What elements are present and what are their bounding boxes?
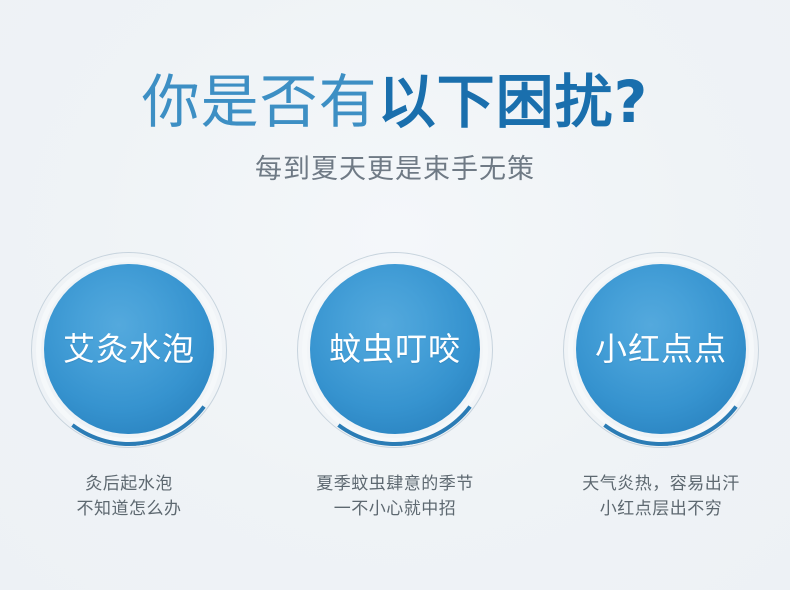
circle-label: 艾灸水泡 <box>63 333 195 365</box>
caption-line-1: 灸后起水泡 <box>77 472 182 497</box>
circle-label: 小红点点 <box>595 333 727 365</box>
circle-badge: 小红点点 <box>563 252 759 448</box>
circle-badge: 艾灸水泡 <box>31 252 227 448</box>
promo-poster: 你是否有以下困扰? 每到夏天更是束手无策 艾灸水泡 灸后起水泡 不知道怎么办 <box>0 0 790 590</box>
problem-card-list: 艾灸水泡 灸后起水泡 不知道怎么办 蚊虫叮咬 夏季蚊虫肆意的季节 一不小心就中招 <box>0 252 790 521</box>
circle-label: 蚊虫叮咬 <box>329 333 461 365</box>
page-title: 你是否有以下困扰? <box>0 0 790 133</box>
problem-card: 小红点点 天气炎热，容易出汗 小红点层出不穷 <box>547 252 775 521</box>
title-strong-part: 以下困扰? <box>378 68 649 136</box>
blue-disc: 艾灸水泡 <box>44 264 214 434</box>
card-caption: 天气炎热，容易出汗 小红点层出不穷 <box>582 472 740 521</box>
card-caption: 夏季蚊虫肆意的季节 一不小心就中招 <box>316 472 474 521</box>
poster-header: 你是否有以下困扰? 每到夏天更是束手无策 <box>0 0 790 186</box>
page-subtitle: 每到夏天更是束手无策 <box>0 133 790 186</box>
caption-line-1: 夏季蚊虫肆意的季节 <box>316 472 474 497</box>
problem-card: 蚊虫叮咬 夏季蚊虫肆意的季节 一不小心就中招 <box>281 252 509 521</box>
caption-line-2: 不知道怎么办 <box>77 497 182 522</box>
card-caption: 灸后起水泡 不知道怎么办 <box>77 472 182 521</box>
circle-badge: 蚊虫叮咬 <box>297 252 493 448</box>
blue-disc: 蚊虫叮咬 <box>310 264 480 434</box>
caption-line-2: 小红点层出不穷 <box>582 497 740 522</box>
problem-card: 艾灸水泡 灸后起水泡 不知道怎么办 <box>15 252 243 521</box>
blue-disc: 小红点点 <box>576 264 746 434</box>
caption-line-1: 天气炎热，容易出汗 <box>582 472 740 497</box>
title-light-part: 你是否有 <box>142 68 378 136</box>
caption-line-2: 一不小心就中招 <box>316 497 474 522</box>
